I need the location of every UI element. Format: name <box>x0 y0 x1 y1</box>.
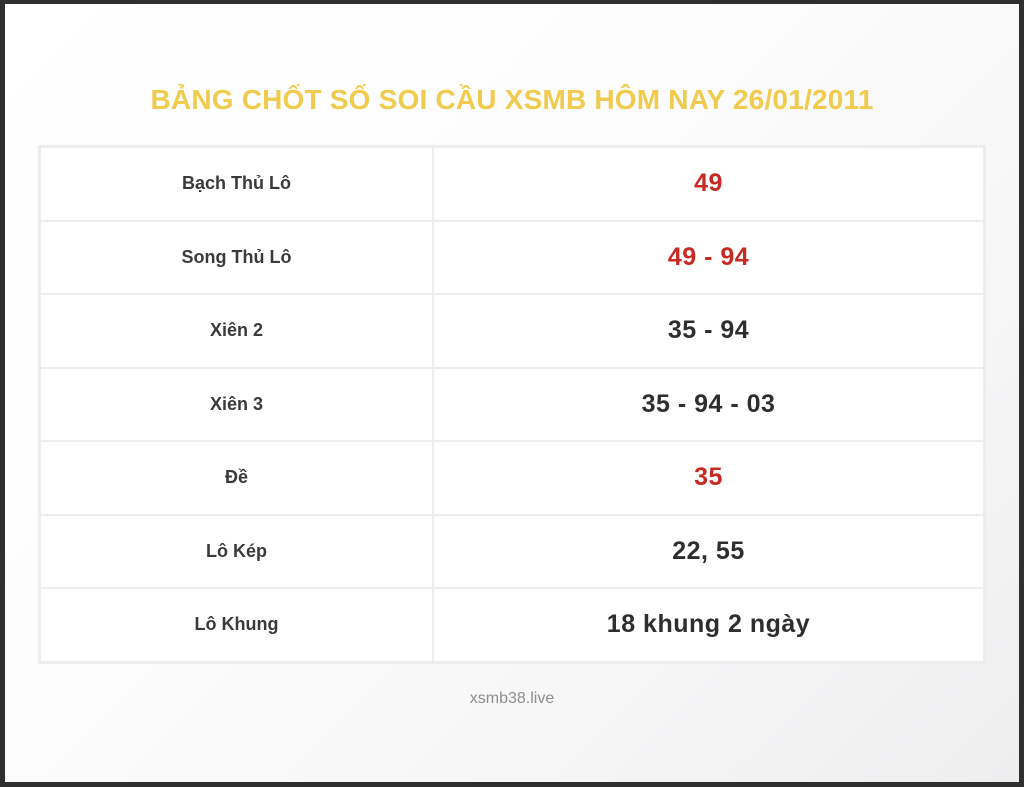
site-watermark: xsmb38.live <box>470 690 554 708</box>
row-value: 35 - 94 - 03 <box>433 368 984 442</box>
table-row: Lô Khung18 khung 2 ngày <box>40 588 984 662</box>
table-row: Xiên 235 - 94 <box>40 294 984 368</box>
row-value: 35 <box>433 441 984 515</box>
table-row: Bạch Thủ Lô49 <box>40 147 984 221</box>
row-value: 35 - 94 <box>433 294 984 368</box>
page-title: BẢNG CHỐT SỐ SOI CẦU XSMB HÔM NAY 26/01/… <box>150 84 873 116</box>
row-label: Lô Khung <box>40 588 433 662</box>
page-container: BẢNG CHỐT SỐ SOI CẦU XSMB HÔM NAY 26/01/… <box>0 0 1024 787</box>
row-label: Đề <box>40 441 433 515</box>
row-value: 18 khung 2 ngày <box>433 588 984 662</box>
table-row: Đề35 <box>40 441 984 515</box>
row-label: Bạch Thủ Lô <box>40 147 433 221</box>
row-label: Song Thủ Lô <box>40 221 433 295</box>
row-label: Xiên 2 <box>40 294 433 368</box>
row-label: Lô Kép <box>40 515 433 589</box>
row-value: 49 - 94 <box>433 221 984 295</box>
table-row: Lô Kép22, 55 <box>40 515 984 589</box>
prediction-table: Bạch Thủ Lô49Song Thủ Lô49 - 94Xiên 235 … <box>39 146 985 663</box>
row-value: 22, 55 <box>433 515 984 589</box>
table-row: Song Thủ Lô49 - 94 <box>40 221 984 295</box>
prediction-table-container: Bạch Thủ Lô49Song Thủ Lô49 - 94Xiên 235 … <box>38 145 986 664</box>
table-row: Xiên 335 - 94 - 03 <box>40 368 984 442</box>
prediction-table-body: Bạch Thủ Lô49Song Thủ Lô49 - 94Xiên 235 … <box>40 147 984 662</box>
row-value: 49 <box>433 147 984 221</box>
row-label: Xiên 3 <box>40 368 433 442</box>
